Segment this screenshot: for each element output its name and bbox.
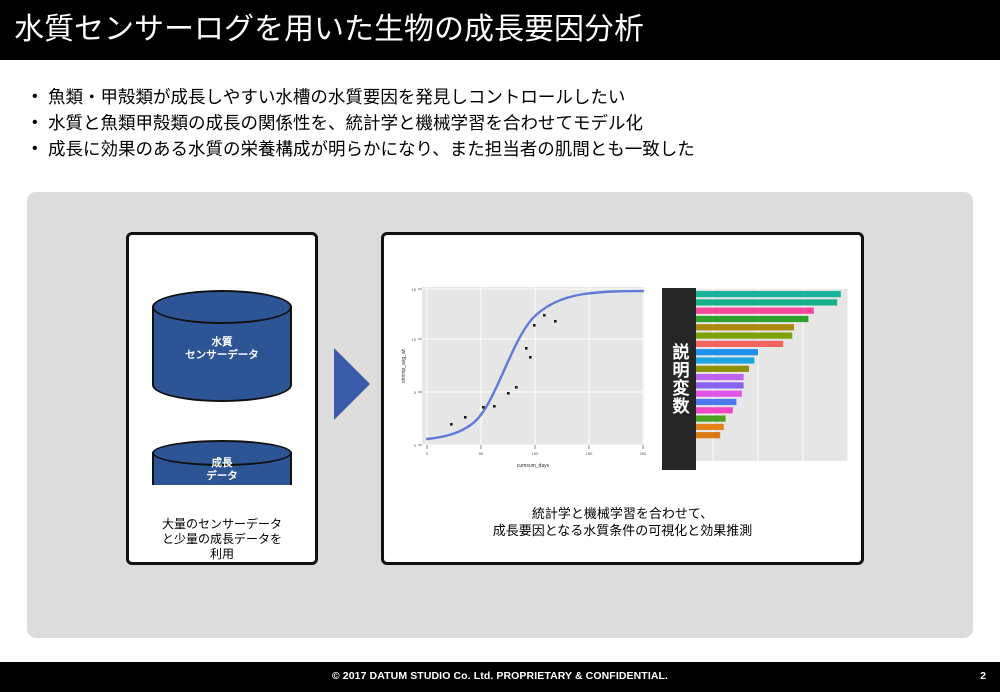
footer-bar: © 2017 DATUM STUDIO Co. Ltd. PROPRIETARY… bbox=[0, 662, 1000, 692]
analysis-output-card: 0 50 100 150 200 0 5 10 15 cumsum_days s… bbox=[381, 232, 864, 565]
chart-panel-background bbox=[422, 287, 644, 445]
svg-text:10: 10 bbox=[412, 337, 417, 342]
svg-text:15: 15 bbox=[412, 287, 417, 292]
sigmoid-growth-chart: 0 50 100 150 200 0 5 10 15 cumsum_days s… bbox=[394, 283, 652, 475]
bullet-item: • 成長に効果のある水質の栄養構成が明らかになり、また担当者の肌間とも一致した bbox=[26, 136, 966, 162]
cylinder-label-line2: データ bbox=[152, 470, 292, 483]
caption-line: 大量のセンサーデータ bbox=[129, 517, 315, 532]
svg-text:200: 200 bbox=[640, 451, 647, 456]
caption-line: 利用 bbox=[129, 547, 315, 562]
bullet-list: • 魚類・甲殻類が成長しやすい水槽の水質要因を発見しコントロールしたい • 水質… bbox=[26, 84, 966, 162]
cylinder-label-line2: センサーデータ bbox=[152, 349, 292, 362]
svg-text:50: 50 bbox=[479, 451, 484, 456]
bullet-item: • 魚類・甲殻類が成長しやすい水槽の水質要因を発見しコントロールしたい bbox=[26, 84, 966, 110]
svg-text:5: 5 bbox=[414, 390, 417, 395]
bullet-text: 魚類・甲殻類が成長しやすい水槽の水質要因を発見しコントロールしたい bbox=[48, 84, 625, 110]
data-sources-card: 水質 センサーデータ 成長 データ 大量のセンサーデータ と少量の成長データを … bbox=[126, 232, 318, 565]
cylinder-label-line1: 成長 bbox=[152, 457, 292, 470]
cylinder-label-line1: 水質 bbox=[152, 336, 292, 349]
y-axis-label: shrimp_avg_wt bbox=[401, 349, 407, 383]
svg-text:0: 0 bbox=[414, 443, 417, 448]
growth-data-cylinder: 成長 データ bbox=[152, 440, 292, 498]
page-number: 2 bbox=[980, 670, 986, 682]
svg-text:0: 0 bbox=[426, 451, 429, 456]
svg-text:150: 150 bbox=[586, 451, 593, 456]
cylinder-label: 水質 センサーデータ bbox=[152, 336, 292, 362]
caption-line: 成長要因となる水質条件の可視化と効果推測 bbox=[384, 522, 861, 539]
x-axis-label: cumsum_days bbox=[517, 463, 550, 469]
bullet-text: 成長に効果のある水質の栄養構成が明らかになり、また担当者の肌間とも一致した bbox=[48, 136, 695, 162]
svg-text:100: 100 bbox=[532, 451, 539, 456]
masked-variable-names-box: 説明変数 bbox=[662, 288, 696, 470]
bullet-marker-icon: • bbox=[26, 136, 48, 162]
slide-canvas: 水質センサーログを用いた生物の成長要因分析 • 魚類・甲殻類が成長しやすい水槽の… bbox=[0, 0, 1000, 692]
bullet-text: 水質と魚類甲殻類の成長の関係性を、統計学と機械学習を合わせてモデル化 bbox=[48, 110, 643, 136]
bullet-item: • 水質と魚類甲殻類の成長の関係性を、統計学と機械学習を合わせてモデル化 bbox=[26, 110, 966, 136]
caption-line: と少量の成長データを bbox=[129, 532, 315, 547]
title-bar: 水質センサーログを用いた生物の成長要因分析 bbox=[0, 0, 1000, 60]
cylinder-label: 成長 データ bbox=[152, 457, 292, 483]
bullet-marker-icon: • bbox=[26, 110, 48, 136]
page-title: 水質センサーログを用いた生物の成長要因分析 bbox=[14, 10, 644, 50]
mask-label: 説明変数 bbox=[671, 343, 688, 415]
sensor-data-cylinder: 水質 センサーデータ bbox=[152, 290, 292, 402]
bullet-marker-icon: • bbox=[26, 84, 48, 110]
footer-copyright: © 2017 DATUM STUDIO Co. Ltd. PROPRIETARY… bbox=[0, 670, 1000, 682]
right-arrow-icon bbox=[332, 348, 372, 420]
data-sources-caption: 大量のセンサーデータ と少量の成長データを 利用 bbox=[129, 517, 315, 562]
caption-line: 統計学と機械学習を合わせて、 bbox=[384, 505, 861, 522]
analysis-output-caption: 統計学と機械学習を合わせて、 成長要因となる水質条件の可視化と効果推測 bbox=[384, 505, 861, 539]
cylinder-top-ellipse bbox=[152, 290, 292, 324]
